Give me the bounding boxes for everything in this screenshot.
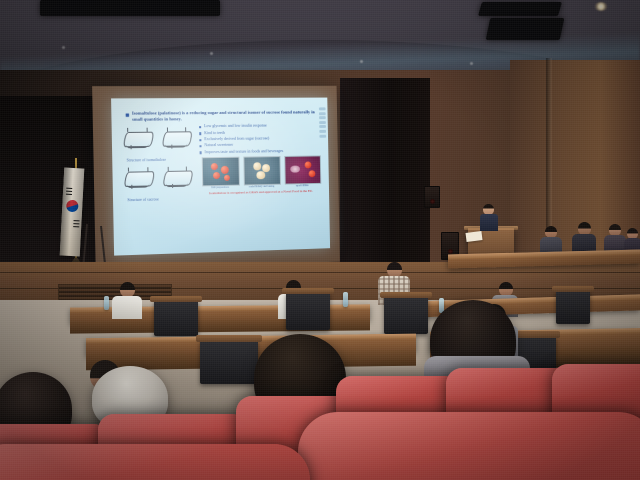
photo-cell: fruit preparations bbox=[202, 156, 240, 189]
bullet-square-icon bbox=[199, 126, 201, 128]
slide-photo-strip: fruit preparations confectionery and bak… bbox=[202, 155, 322, 189]
list-item: Improves taste and texture in foods and … bbox=[200, 148, 321, 155]
bullet-square-icon bbox=[126, 114, 129, 117]
water-bottle bbox=[343, 292, 348, 307]
ceiling-panel bbox=[40, 0, 220, 16]
stage-curtain bbox=[340, 78, 430, 273]
bullet-square-icon bbox=[199, 132, 201, 134]
ceiling-panel bbox=[478, 2, 562, 16]
lecture-hall-photo: Isomaltulose (palatinose) is a reducing … bbox=[0, 0, 640, 480]
photo-berries bbox=[202, 156, 240, 186]
slide-footnote: Isomaltulose is recognised as GRAS and a… bbox=[200, 189, 321, 196]
presenter bbox=[480, 204, 498, 230]
list-item: Exclusively derived from sugar (sucrose) bbox=[199, 136, 320, 142]
bullet-square-icon bbox=[199, 139, 201, 141]
bullet-square-icon bbox=[199, 145, 201, 147]
structure-diagram-sucrose bbox=[123, 165, 197, 198]
av-speaker-icon bbox=[424, 186, 440, 208]
water-bottle bbox=[104, 296, 109, 310]
slide-left-column: Structure of isomaltulose Structure of s… bbox=[120, 124, 197, 202]
slide-body: Structure of isomaltulose Structure of s… bbox=[120, 123, 322, 202]
photo-confectionery bbox=[243, 156, 281, 185]
screen-surface: Isomaltulose (palatinose) is a reducing … bbox=[111, 98, 330, 256]
attendee-white-shirt-left bbox=[112, 282, 142, 318]
chair-frame bbox=[150, 296, 202, 302]
photo-beverage bbox=[284, 155, 321, 184]
slide-right-column: Low glycemic and low insulin response Ki… bbox=[199, 123, 321, 200]
chair-frame bbox=[552, 286, 594, 292]
attendee-suit-2 bbox=[572, 222, 596, 254]
chair-frame bbox=[380, 292, 432, 298]
theater-seat-foreground[interactable] bbox=[0, 444, 310, 480]
recessed-spotlight-icon bbox=[594, 2, 608, 11]
list-item: Low glycemic and low insulin response bbox=[199, 123, 320, 129]
chair-frame bbox=[282, 288, 334, 294]
bullet-square-icon bbox=[200, 152, 202, 154]
presenter-torso bbox=[480, 214, 498, 231]
slide-bullet-list: Low glycemic and low insulin response Ki… bbox=[199, 123, 321, 155]
chair bbox=[154, 300, 198, 336]
chair bbox=[384, 296, 428, 334]
slide-heading: Isomaltulose (palatinose) is a reducing … bbox=[132, 109, 318, 122]
chair bbox=[556, 290, 590, 324]
slide-side-tabs bbox=[319, 107, 326, 139]
photo-cell: sports drinks bbox=[284, 155, 321, 188]
photo-cell: confectionery and baking bbox=[243, 156, 281, 189]
chair bbox=[200, 340, 258, 384]
ceiling-downlight-icon bbox=[470, 62, 473, 65]
chair bbox=[286, 292, 330, 330]
ceiling-downlight-icon bbox=[210, 52, 213, 55]
structure-caption-top: Structure of isomaltulose bbox=[127, 158, 196, 163]
ceiling-downlight-icon bbox=[360, 60, 363, 63]
slide-heading-row: Isomaltulose (palatinose) is a reducing … bbox=[126, 109, 320, 122]
projection-screen: Isomaltulose (palatinose) is a reducing … bbox=[92, 86, 340, 271]
lectern-papers bbox=[466, 231, 483, 242]
presentation-slide: Isomaltulose (palatinose) is a reducing … bbox=[111, 98, 330, 256]
structure-diagram-isomaltulose bbox=[122, 125, 196, 157]
ceiling-downlight-icon bbox=[62, 46, 65, 49]
ceiling-panel bbox=[486, 18, 565, 40]
chair-frame bbox=[196, 335, 262, 342]
theater-seat-foreground[interactable] bbox=[298, 412, 640, 480]
structure-caption-bottom: Structure of sucrose bbox=[127, 197, 196, 203]
